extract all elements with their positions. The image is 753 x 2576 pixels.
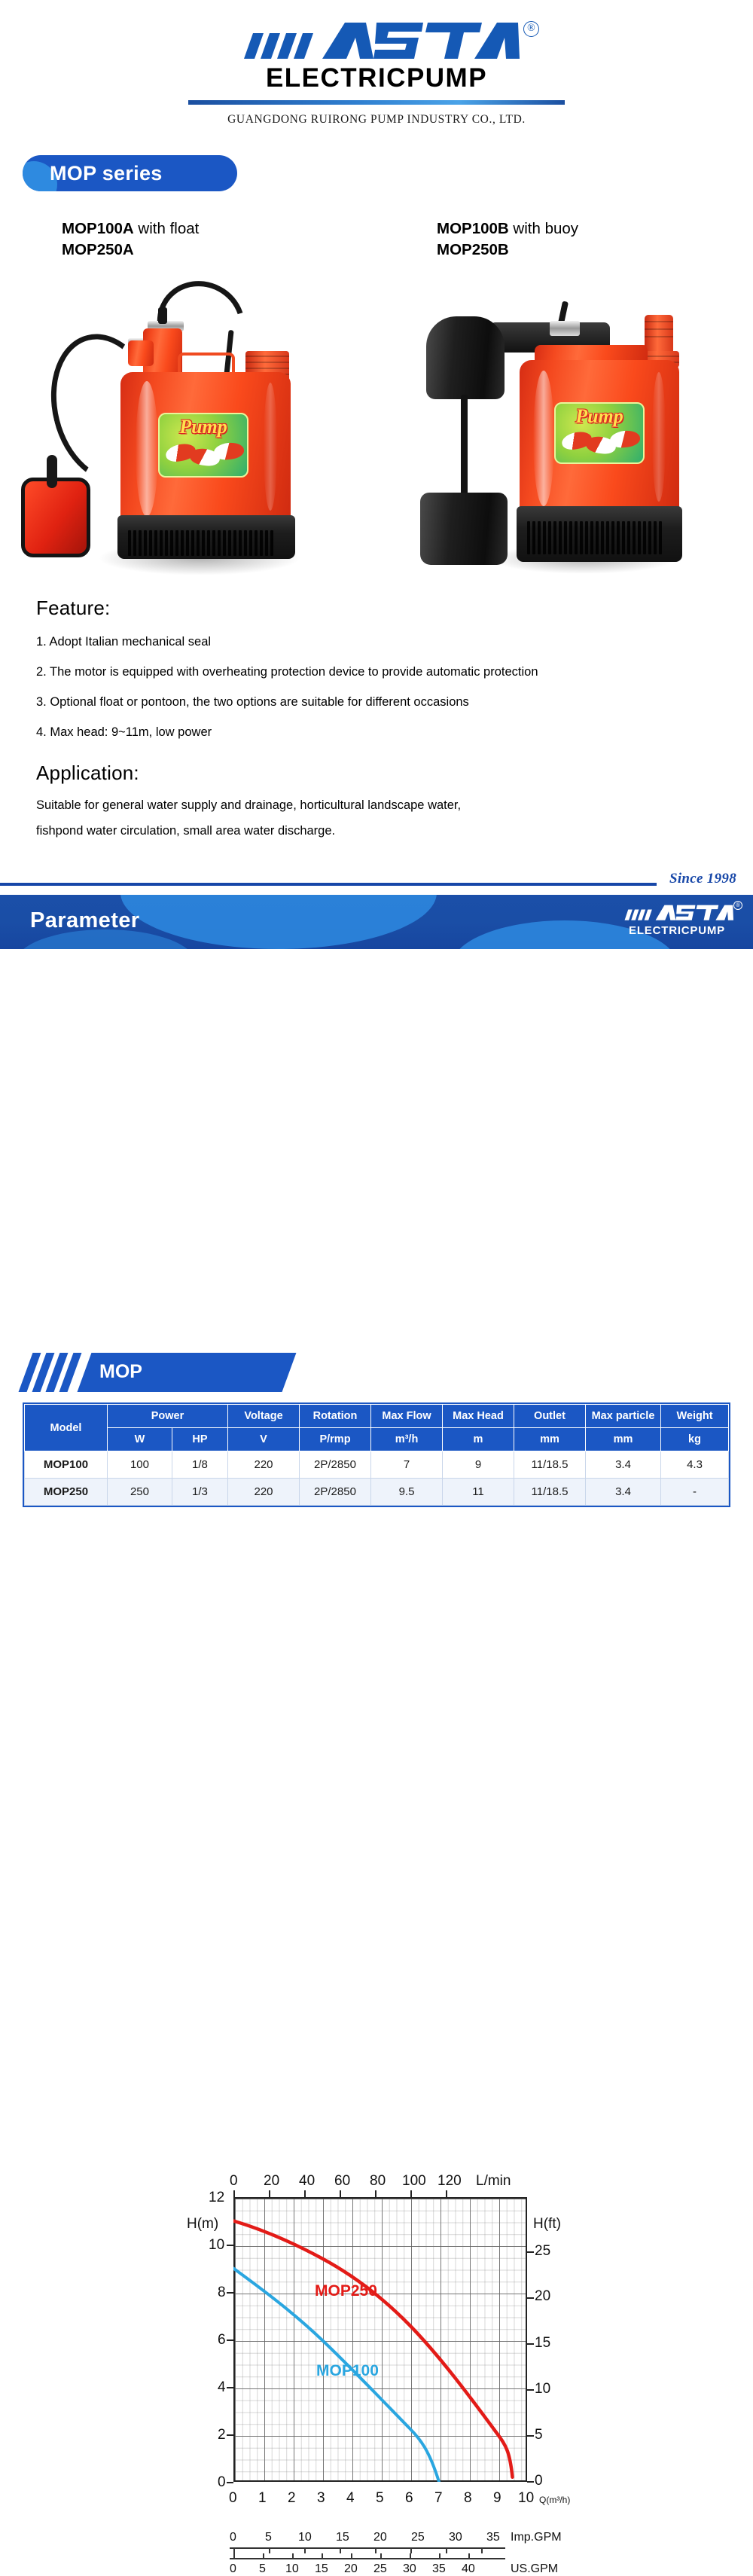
- bottom-tick-5: 5: [376, 2490, 384, 2507]
- feature-item-1: 1. Adopt Italian mechanical seal: [36, 633, 717, 650]
- application-section: Application: Suitable for general water …: [0, 762, 753, 844]
- cell-weight: -: [661, 1479, 729, 1506]
- product-model-b1: MOP100B: [437, 220, 509, 237]
- cell-max-particle: 3.4: [586, 1451, 661, 1479]
- buoy-weight: [420, 493, 508, 565]
- th-unit-mm-outlet: mm: [514, 1428, 586, 1451]
- bottom-tick-1: 1: [258, 2490, 267, 2507]
- mastra-logo-icon: ®: [620, 904, 733, 923]
- cell-max-head: 9: [443, 1451, 514, 1479]
- top-tick-40: 40: [299, 2173, 315, 2190]
- us-gpm-tick-30: 30: [403, 2562, 416, 2576]
- th-unit-m: m: [443, 1428, 514, 1451]
- bottom-tick-2: 2: [288, 2490, 296, 2507]
- product-model-a2: MOP250A: [62, 241, 134, 258]
- logo-subtitle: ELECTRICPUMP: [188, 65, 565, 91]
- application-line-2: fishpond water circulation, small area w…: [36, 818, 717, 844]
- imp-gpm-tick-30: 30: [449, 2531, 462, 2544]
- cell-model: MOP100: [25, 1451, 108, 1479]
- cell-outlet: 11/18.5: [514, 1479, 586, 1506]
- table-row: MOP250 250 1/3 220 2P/2850 9.5 11 11/18.…: [25, 1479, 729, 1506]
- application-line-1: Suitable for general water supply and dr…: [36, 792, 717, 818]
- imp-gpm-tick-25: 25: [411, 2531, 425, 2544]
- cell-max-flow: 7: [371, 1451, 443, 1479]
- th-unit-mm-particle: mm: [586, 1428, 661, 1451]
- us-gpm-tick-0: 0: [230, 2562, 236, 2576]
- left-axis-label: H(m): [187, 2216, 218, 2233]
- table-header-row-2: W HP V P/rmp m³/h m mm mm kg: [25, 1428, 729, 1451]
- imp-gpm-tick-15: 15: [336, 2531, 349, 2544]
- since-row: Since 1998: [0, 869, 753, 895]
- left-tick-6: 6: [218, 2332, 226, 2349]
- right-axis-label: H(ft): [533, 2216, 561, 2233]
- curve-mop250: [233, 2221, 513, 2477]
- feature-item-3: 3. Optional float or pontoon, the two op…: [36, 694, 717, 710]
- th-voltage: Voltage: [228, 1405, 300, 1428]
- left-tick-2: 2: [218, 2427, 226, 2443]
- parameter-title: Parameter: [30, 908, 139, 933]
- cell-model: MOP250: [25, 1479, 108, 1506]
- bottom-tick-7: 7: [434, 2490, 443, 2507]
- th-outlet: Outlet: [514, 1405, 586, 1428]
- banner-logo-subtitle: ELECTRICPUMP: [620, 925, 733, 936]
- left-tick-8: 8: [218, 2285, 226, 2301]
- feature-item-2: 2. The motor is equipped with overheatin…: [36, 664, 717, 680]
- imp-gpm-tick-35: 35: [486, 2531, 500, 2544]
- th-unit-hp: HP: [172, 1428, 227, 1451]
- mop-tag-label: MOP: [99, 1361, 142, 1383]
- feature-item-4: 4. Max head: 9~11m, low power: [36, 724, 717, 740]
- buoy-housing: [426, 316, 505, 399]
- bottom-tick-9: 9: [493, 2490, 501, 2507]
- since-label: Since 1998: [669, 871, 736, 887]
- page-header: ® ELECTRICPUMP GUANGDONG RUIRONG PUMP IN…: [0, 0, 753, 127]
- right-tick-10: 10: [535, 2381, 550, 2397]
- us-gpm-tick-35: 35: [432, 2562, 446, 2576]
- product-titles: MOP100A with float MOP250A MOP100B with …: [0, 218, 753, 265]
- left-tick-0: 0: [218, 2474, 226, 2491]
- product-decal: Pump: [158, 413, 248, 478]
- product-images: Pump: [0, 268, 753, 584]
- product-image-mop100a: Pump: [15, 276, 339, 577]
- spec-table: Model Power Voltage Rotation Max Flow Ma…: [24, 1404, 729, 1506]
- performance-curve-chart: MOP250 MOP100 0 20 40 60 80 100 120 L/mi…: [0, 949, 753, 1326]
- cell-voltage: 220: [228, 1451, 300, 1479]
- parameter-banner: Parameter ® ELECTRICPUMP: [0, 895, 753, 949]
- bottom-tick-4: 4: [346, 2490, 355, 2507]
- top-tick-80: 80: [370, 2173, 386, 2190]
- registered-trademark-icon: ®: [733, 901, 742, 910]
- top-tick-20: 20: [264, 2173, 279, 2190]
- registered-trademark-icon: ®: [523, 21, 539, 37]
- cell-voltage: 220: [228, 1479, 300, 1506]
- cell-max-particle: 3.4: [586, 1479, 661, 1506]
- cell-power-hp: 1/3: [172, 1479, 227, 1506]
- feature-section: Feature: 1. Adopt Italian mechanical sea…: [0, 597, 753, 740]
- top-tick-100: 100: [402, 2173, 426, 2190]
- imp-gpm-tick-10: 10: [298, 2531, 312, 2544]
- decal-text: Pump: [179, 416, 227, 438]
- th-max-flow: Max Flow: [371, 1405, 443, 1428]
- th-unit-w: W: [108, 1428, 172, 1451]
- left-tick-10: 10: [209, 2237, 224, 2254]
- curve-label-mop100: MOP100: [316, 2362, 379, 2380]
- product-decal: Pump: [554, 402, 645, 464]
- th-unit-m3h: m³/h: [371, 1428, 443, 1451]
- right-tick-25: 25: [535, 2243, 550, 2260]
- us-gpm-tick-5: 5: [259, 2562, 266, 2576]
- top-tick-60: 60: [334, 2173, 350, 2190]
- imp-gpm-tick-5: 5: [265, 2531, 272, 2544]
- left-tick-4: 4: [218, 2379, 226, 2396]
- product-model-b2: MOP250B: [437, 241, 509, 258]
- th-weight: Weight: [661, 1405, 729, 1428]
- imp-gpm-label: Imp.GPM: [511, 2531, 562, 2544]
- th-model: Model: [25, 1405, 108, 1451]
- cell-weight: 4.3: [661, 1451, 729, 1479]
- us-gpm-tick-20: 20: [344, 2562, 358, 2576]
- header-divider: [188, 100, 565, 105]
- cell-power-w: 100: [108, 1451, 172, 1479]
- th-rotation: Rotation: [300, 1405, 371, 1428]
- product-title-right: MOP100B with buoy MOP250B: [437, 218, 578, 261]
- bottom-tick-0: 0: [229, 2490, 237, 2507]
- table-title-tag: MOP: [0, 1348, 753, 1395]
- series-badge: MOP series: [23, 155, 237, 191]
- brand-logo: ® ELECTRICPUMP: [188, 20, 565, 105]
- th-max-particle: Max particle: [586, 1405, 661, 1428]
- since-divider: [0, 883, 657, 886]
- cell-max-head: 11: [443, 1479, 514, 1506]
- product-title-left: MOP100A with float MOP250A: [62, 218, 199, 261]
- mastra-logo-icon: ®: [233, 20, 520, 66]
- series-badge-label: MOP series: [23, 162, 163, 185]
- outlet-port: [645, 315, 673, 356]
- th-unit-v: V: [228, 1428, 300, 1451]
- th-max-head: Max Head: [443, 1405, 514, 1428]
- th-unit-kg: kg: [661, 1428, 729, 1451]
- right-tick-20: 20: [535, 2288, 550, 2305]
- product-model-a1: MOP100A: [62, 220, 134, 237]
- cell-power-hp: 1/8: [172, 1451, 227, 1479]
- intake-grille: [527, 521, 662, 554]
- imp-gpm-tick-0: 0: [230, 2531, 236, 2544]
- us-gpm-label: US.GPM: [511, 2562, 558, 2576]
- cell-rotation: 2P/2850: [300, 1451, 371, 1479]
- application-heading: Application:: [36, 762, 717, 785]
- intake-grille: [128, 530, 273, 556]
- chart-curves: [233, 2197, 527, 2482]
- float-switch: [21, 478, 90, 557]
- spec-table-container: Model Power Voltage Rotation Max Flow Ma…: [23, 1402, 730, 1507]
- slash-decor-icon: [26, 1353, 75, 1392]
- decal-text: Pump: [575, 405, 623, 428]
- imp-gpm-tick-20: 20: [373, 2531, 387, 2544]
- th-power: Power: [108, 1405, 228, 1428]
- top-tick-0: 0: [230, 2173, 238, 2190]
- bottom-axis-label: Q(m³/h): [539, 2495, 570, 2505]
- top-tick-120: 120: [437, 2173, 462, 2190]
- us-gpm-tick-25: 25: [373, 2562, 387, 2576]
- us-gpm-tick-15: 15: [315, 2562, 328, 2576]
- product-variant-b1: with buoy: [509, 220, 578, 237]
- right-tick-5: 5: [535, 2427, 543, 2443]
- product-image-mop100b: Pump: [399, 276, 715, 577]
- cell-max-flow: 9.5: [371, 1479, 443, 1506]
- product-variant-a1: with float: [134, 220, 200, 237]
- curve-label-mop250: MOP250: [315, 2282, 377, 2300]
- feature-heading: Feature:: [36, 597, 717, 620]
- cell-outlet: 11/18.5: [514, 1451, 586, 1479]
- bottom-tick-10: 10: [518, 2490, 534, 2507]
- cell-power-w: 250: [108, 1479, 172, 1506]
- us-gpm-tick-40: 40: [462, 2562, 475, 2576]
- bottom-tick-8: 8: [464, 2490, 472, 2507]
- buoy-rod: [461, 395, 468, 500]
- company-name: GUANGDONG RUIRONG PUMP INDUSTRY CO., LTD…: [0, 113, 753, 127]
- bottom-tick-3: 3: [317, 2490, 325, 2507]
- left-tick-12: 12: [209, 2190, 224, 2206]
- right-tick-0: 0: [535, 2473, 543, 2489]
- us-gpm-tick-10: 10: [285, 2562, 299, 2576]
- table-row: MOP100 100 1/8 220 2P/2850 7 9 11/18.5 3…: [25, 1451, 729, 1479]
- banner-brand-logo: ® ELECTRICPUMP: [620, 904, 733, 936]
- top-axis-label: L/min: [476, 2173, 511, 2190]
- bottom-tick-6: 6: [405, 2490, 413, 2507]
- cell-rotation: 2P/2850: [300, 1479, 371, 1506]
- table-header-row-1: Model Power Voltage Rotation Max Flow Ma…: [25, 1405, 729, 1428]
- right-tick-15: 15: [535, 2335, 550, 2352]
- th-unit-prmp: P/rmp: [300, 1428, 371, 1451]
